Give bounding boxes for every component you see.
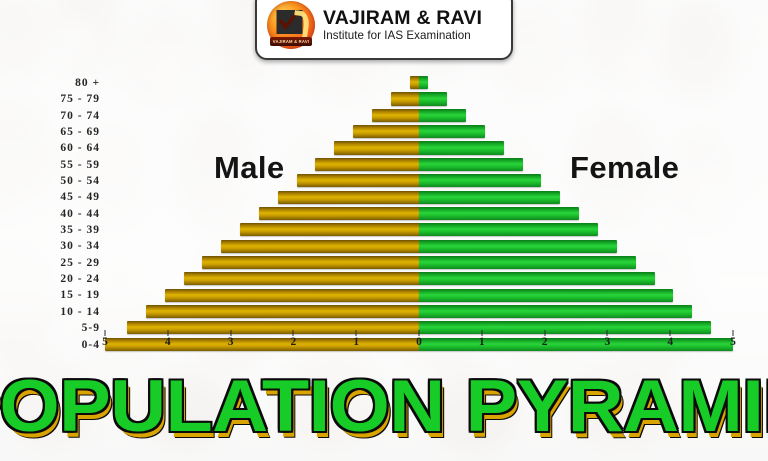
axis-tick-label: 4 [667, 336, 673, 348]
axis-tick-label: 5 [730, 336, 736, 348]
age-group-label: 0-4 [0, 337, 100, 353]
pyramid-row [105, 75, 733, 91]
age-group-label: 65 - 69 [0, 124, 100, 140]
page-title: POPULATION PYRAMID [0, 372, 768, 442]
male-bar[interactable] [391, 92, 419, 105]
pyramid-row [105, 108, 733, 124]
brand-logo-card: VAJIRAM & RAVI VAJIRAM & RAVI Institute … [255, 0, 513, 60]
male-bar[interactable] [410, 76, 419, 89]
axis-tick-label: 0 [416, 336, 422, 348]
pyramid-row [105, 91, 733, 107]
female-bar[interactable] [419, 305, 692, 318]
logo-tagline: Institute for IAS Examination [323, 30, 482, 42]
female-bar[interactable] [419, 76, 428, 89]
axis-tick-label: 4 [165, 336, 171, 348]
age-group-label: 40 - 44 [0, 206, 100, 222]
axis-tick-label: 1 [479, 336, 485, 348]
female-bar[interactable] [419, 125, 485, 138]
female-legend-label: Female [570, 150, 679, 186]
pyramid-row [105, 222, 733, 238]
vajiram-ravi-sphere-icon: VAJIRAM & RAVI [267, 1, 315, 49]
female-bar[interactable] [419, 289, 673, 302]
age-group-label: 30 - 34 [0, 238, 100, 254]
axis-tick-label: 2 [291, 336, 297, 348]
male-bar[interactable] [259, 207, 419, 220]
female-bar[interactable] [419, 158, 523, 171]
pyramid-bars [105, 75, 733, 353]
pyramid-row [105, 271, 733, 287]
female-bar[interactable] [419, 109, 466, 122]
logo-institute-name: VAJIRAM & RAVI [323, 8, 482, 28]
female-bar[interactable] [419, 272, 655, 285]
female-bar[interactable] [419, 240, 617, 253]
male-bar[interactable] [221, 240, 419, 253]
axis-tick-label: 2 [542, 336, 548, 348]
age-group-label: 80 + [0, 75, 100, 91]
age-group-label: 25 - 29 [0, 255, 100, 271]
axis-tick-label: 3 [605, 336, 611, 348]
age-group-axis-labels: 80 +75 - 7970 - 7465 - 6960 - 6455 - 595… [0, 75, 100, 353]
male-bar[interactable] [297, 174, 419, 187]
pyramid-row [105, 124, 733, 140]
value-axis: 54321012345 [105, 330, 733, 354]
pyramid-row [105, 255, 733, 271]
title-banner: POPULATION PYRAMID [0, 353, 768, 461]
age-group-label: 45 - 49 [0, 189, 100, 205]
axis-tick-label: 3 [228, 336, 234, 348]
male-bar[interactable] [165, 289, 419, 302]
pyramid-row [105, 189, 733, 205]
pyramid-row [105, 287, 733, 303]
female-bar[interactable] [419, 174, 541, 187]
pyramid-row [105, 304, 733, 320]
male-legend-label: Male [214, 150, 285, 186]
male-bar[interactable] [372, 109, 419, 122]
male-bar[interactable] [146, 305, 419, 318]
female-bar[interactable] [419, 207, 579, 220]
axis-tick-label: 1 [353, 336, 359, 348]
age-group-label: 75 - 79 [0, 91, 100, 107]
age-group-label: 70 - 74 [0, 108, 100, 124]
axis-tick-label: 5 [102, 336, 108, 348]
logo-ribbon: VAJIRAM & RAVI [270, 37, 312, 46]
pyramid-row [105, 206, 733, 222]
age-group-label: 60 - 64 [0, 140, 100, 156]
pyramid-row [105, 238, 733, 254]
female-bar[interactable] [419, 92, 447, 105]
swoosh-icon [291, 10, 310, 38]
male-bar[interactable] [240, 223, 419, 236]
age-group-label: 20 - 24 [0, 271, 100, 287]
male-bar[interactable] [202, 256, 419, 269]
male-bar[interactable] [315, 158, 419, 171]
male-bar[interactable] [353, 125, 419, 138]
age-group-label: 10 - 14 [0, 304, 100, 320]
female-bar[interactable] [419, 191, 560, 204]
age-group-label: 5-9 [0, 320, 100, 336]
female-bar[interactable] [419, 256, 636, 269]
age-group-label: 15 - 19 [0, 287, 100, 303]
age-group-label: 55 - 59 [0, 157, 100, 173]
female-bar[interactable] [419, 141, 504, 154]
male-bar[interactable] [184, 272, 420, 285]
male-bar[interactable] [278, 191, 419, 204]
age-group-label: 50 - 54 [0, 173, 100, 189]
female-bar[interactable] [419, 223, 598, 236]
age-group-label: 35 - 39 [0, 222, 100, 238]
male-bar[interactable] [334, 141, 419, 154]
logo-text-block: VAJIRAM & RAVI Institute for IAS Examina… [323, 8, 482, 42]
